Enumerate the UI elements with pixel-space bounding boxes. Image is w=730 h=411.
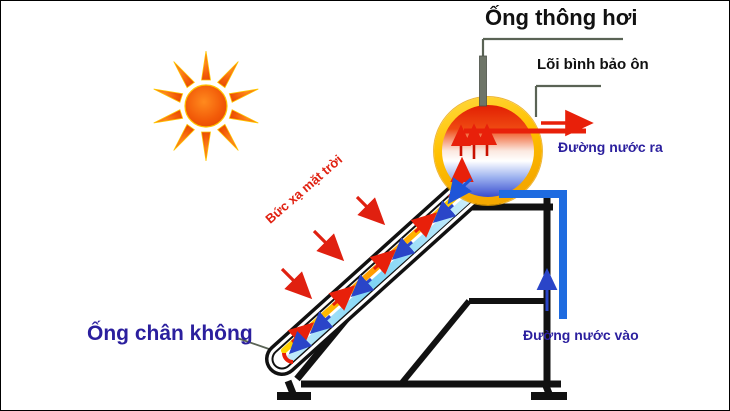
label-water-outlet: Đường nước ra: [558, 140, 663, 154]
label-vent-pipe: Ống thông hơi: [485, 7, 638, 29]
label-water-inlet: Đường nước vào: [523, 328, 639, 342]
vent-pipe: [480, 56, 487, 106]
sun-icon: [152, 51, 259, 161]
label-insulated-core: Lõi bình bảo ôn: [537, 57, 649, 72]
label-vacuum-tube: Ống chân không: [87, 323, 253, 344]
solar-water-heater-diagram: Ống thông hơi Lõi bình bảo ôn Đường nước…: [0, 0, 730, 411]
